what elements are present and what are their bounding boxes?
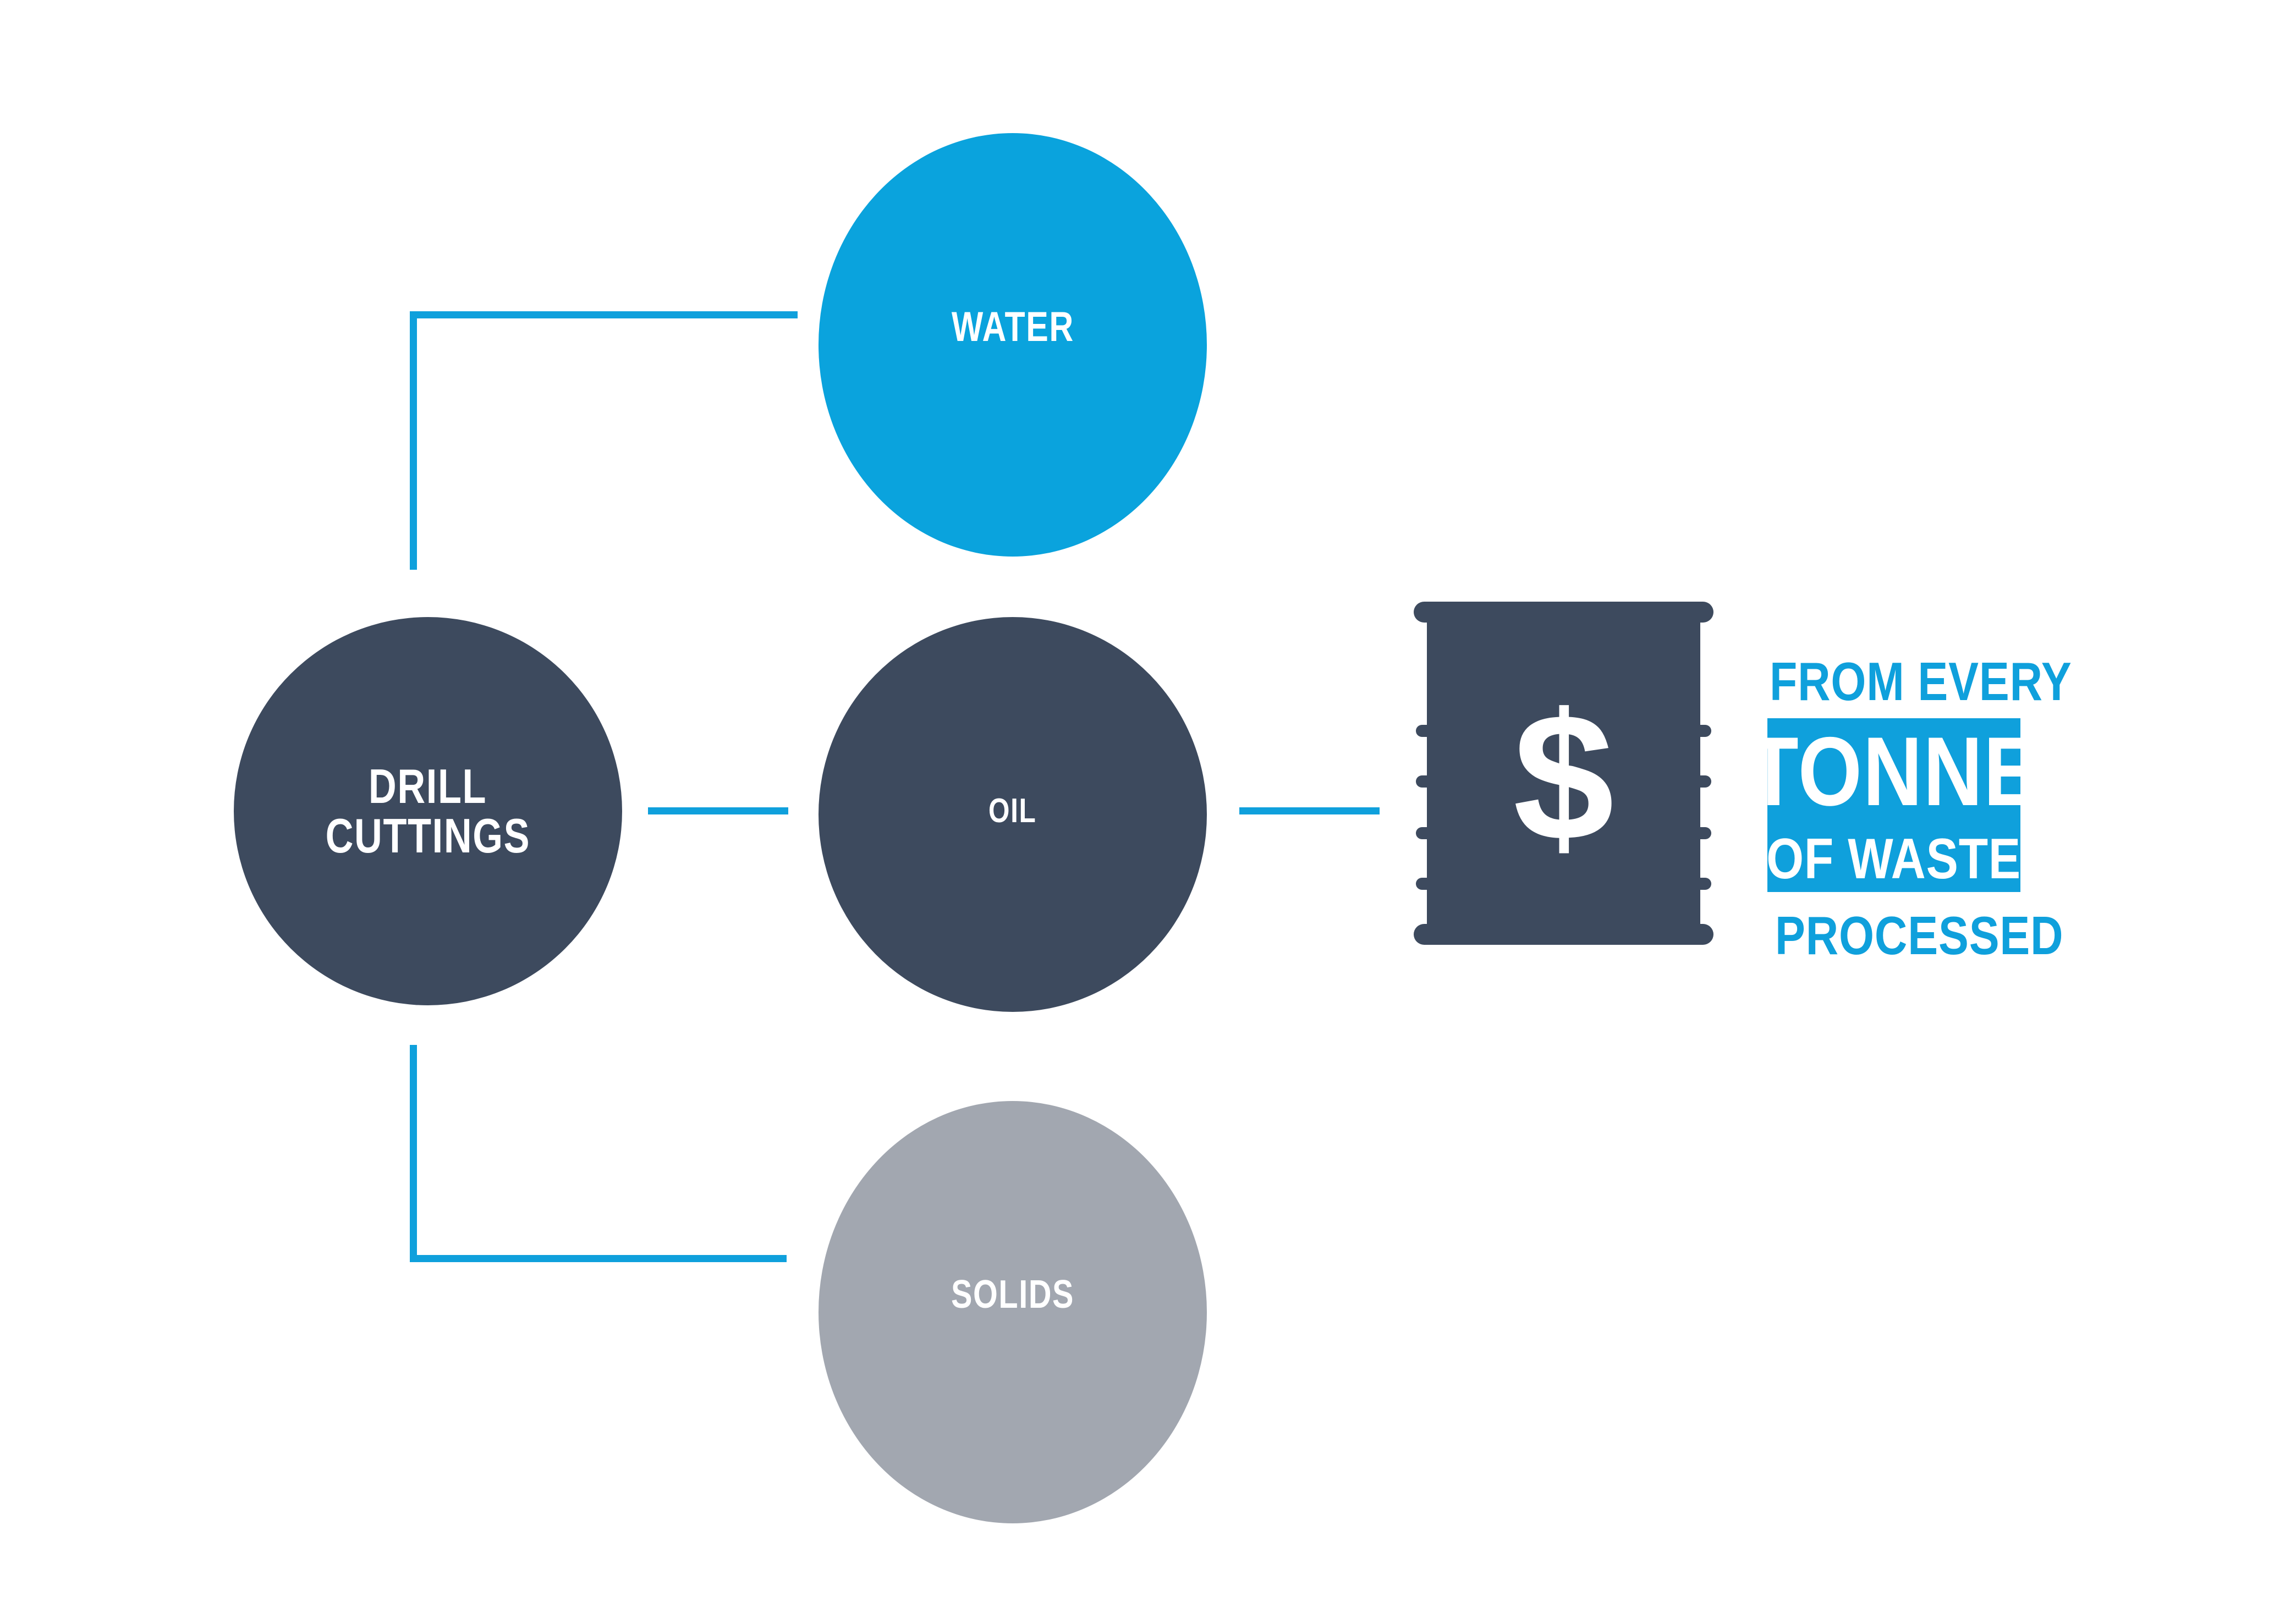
node-water-label: WATER	[951, 306, 1074, 349]
connector-drill-to-solids-horizontal	[410, 1255, 787, 1262]
diagram-canvas: DRILL CUTTINGS WATER OIL SOLIDS $	[0, 0, 2274, 1624]
callout-tonne-text: TONNE	[1721, 723, 2067, 821]
callout-line-processed: PROCESSED	[1775, 909, 2119, 962]
barrel-rim-top	[1414, 602, 1713, 623]
node-solids[interactable]: SOLIDS	[819, 1101, 1207, 1523]
node-drill-cuttings[interactable]: DRILL CUTTINGS	[234, 617, 622, 1005]
barrel-rim-bottom	[1414, 924, 1713, 945]
node-drill-cuttings-label-line1: DRILL	[369, 762, 487, 811]
callout-block: FROM EVERY TONNE OF WASTE PROCESSED	[1767, 654, 2119, 962]
connector-drill-to-oil	[648, 807, 788, 814]
dollar-sign-icon: $	[1414, 686, 1713, 868]
oil-barrel-icon[interactable]: $	[1414, 599, 1713, 1039]
node-drill-cuttings-label-line2: CUTTINGS	[326, 811, 531, 861]
connector-drill-to-solids-vertical	[410, 1045, 417, 1262]
connector-drill-to-water-vertical	[410, 311, 417, 570]
callout-line-from-every-text: FROM EVERY	[1770, 654, 2072, 708]
node-oil-label: OIL	[988, 794, 1036, 828]
connector-oil-to-barrel	[1239, 807, 1380, 814]
callout-line-processed-text: PROCESSED	[1775, 909, 2063, 962]
node-water[interactable]: WATER	[819, 133, 1207, 557]
node-solids-label: SOLIDS	[951, 1275, 1074, 1315]
callout-line-from-every: FROM EVERY	[1770, 654, 2119, 708]
connector-drill-to-water-horizontal	[410, 311, 798, 318]
callout-of-waste-text: OF WASTE	[1742, 830, 2045, 888]
callout-highlight-box: TONNE OF WASTE	[1767, 718, 2020, 892]
node-oil[interactable]: OIL	[819, 617, 1207, 1012]
